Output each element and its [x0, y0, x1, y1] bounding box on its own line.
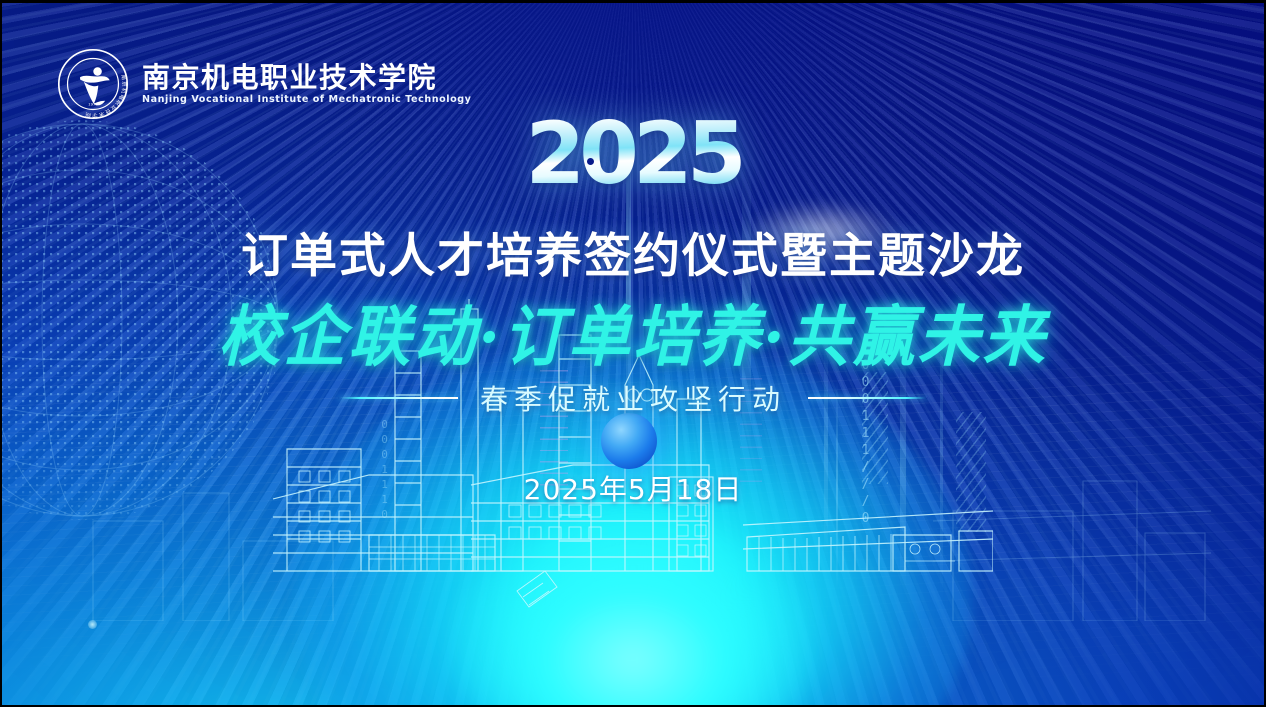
school-name-block: 南京机电职业技术学院 Nanjing Vocational Institute …: [142, 63, 471, 105]
year-zero-dot: [587, 158, 594, 165]
event-subtitle: 春季促就业攻坚行动: [480, 378, 786, 418]
svg-text:1978: 1978: [88, 101, 98, 106]
school-logo[interactable]: 南京机电职业技术学院 Nanjing Vocational Institute …: [55, 46, 471, 122]
event-title: 订单式人才培养签约仪式暨主题沙龙: [0, 217, 1266, 286]
event-slogan: 校企联动·订单培养·共赢未来: [0, 283, 1266, 378]
subtitle-rule-right: [808, 397, 928, 399]
event-poster: 000111///0 0001110: [0, 0, 1266, 707]
year-text: 2025: [525, 104, 740, 204]
school-name-cn: 南京机电职业技术学院: [142, 63, 471, 92]
frame-edge-left: [0, 0, 2, 707]
small-light-dot: [88, 620, 97, 629]
subtitle-row: 春季促就业攻坚行动: [0, 378, 1266, 418]
glowing-blue-sphere: [601, 413, 657, 469]
event-date: 2025年5月18日: [0, 468, 1266, 508]
subtitle-rule-left: [338, 397, 458, 399]
school-seal-icon: 南京机电职业技术学院 Nanjing Vocational Institute …: [55, 46, 131, 122]
school-name-en: Nanjing Vocational Institute of Mechatro…: [142, 94, 471, 105]
frame-edge-top: [0, 0, 1266, 3]
